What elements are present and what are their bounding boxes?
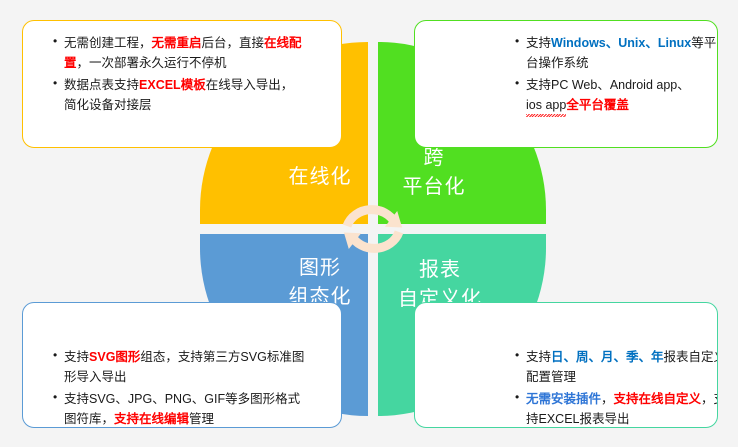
list-item: 无需创建工程，无需重启后台，直接在线配置，一次部署永久运行不停机 [53, 33, 305, 74]
list-item: 无需安装插件，支持在线自定义，支持EXCEL报表导出 [515, 389, 718, 429]
callout-bottom-right: 支持日、周、月、季、年报表自定义配置管理 无需安装插件，支持在线自定义，支持EX… [414, 302, 718, 428]
callout-top-right: 支持Windows、Unix、Linux等平台操作系统 支持PC Web、And… [414, 20, 718, 148]
list-item: 支持SVG图形组态，支持第三方SVG标准图形导入导出 [53, 347, 305, 388]
infographic-canvas: 在线化 跨 平台化 图形 组态化 报表 自定义化 [0, 0, 738, 447]
callout-bottom-left: 支持SVG图形组态，支持第三方SVG标准图形导入导出 支持SVG、JPG、PNG… [22, 302, 342, 428]
callout-top-left: 无需创建工程，无需重启后台，直接在线配置，一次部署永久运行不停机 数据点表支持E… [22, 20, 342, 148]
quadrant-reports-label-line1: 报表 [398, 256, 482, 285]
callout-bottom-right-list: 支持日、周、月、季、年报表自定义配置管理 无需安装插件，支持在线自定义，支持EX… [515, 347, 718, 428]
quadrant-cross-platform-label-line2: 平台化 [403, 173, 466, 202]
callout-top-right-list: 支持Windows、Unix、Linux等平台操作系统 支持PC Web、And… [515, 33, 718, 115]
list-item: 支持SVG、JPG、PNG、GIF等多图形格式图符库，支持在线编辑管理 [53, 389, 305, 429]
list-item: 支持PC Web、Android app、ios app全平台覆盖 [515, 75, 718, 116]
quadrant-cross-platform-label-line1: 跨 [403, 144, 466, 173]
quadrant-online-label-line1: 在线化 [289, 163, 352, 192]
quadrant-graphics-label-line1: 图形 [289, 254, 352, 283]
spellcheck-underline: ios app [526, 95, 566, 115]
list-item: 数据点表支持EXCEL模板在线导入导出，简化设备对接层 [53, 75, 305, 116]
callout-bottom-left-list: 支持SVG图形组态，支持第三方SVG标准图形导入导出 支持SVG、JPG、PNG… [53, 347, 305, 428]
list-item: 支持日、周、月、季、年报表自定义配置管理 [515, 347, 718, 388]
callout-top-left-list: 无需创建工程，无需重启后台，直接在线配置，一次部署永久运行不停机 数据点表支持E… [53, 33, 305, 115]
list-item: 支持Windows、Unix、Linux等平台操作系统 [515, 33, 718, 74]
